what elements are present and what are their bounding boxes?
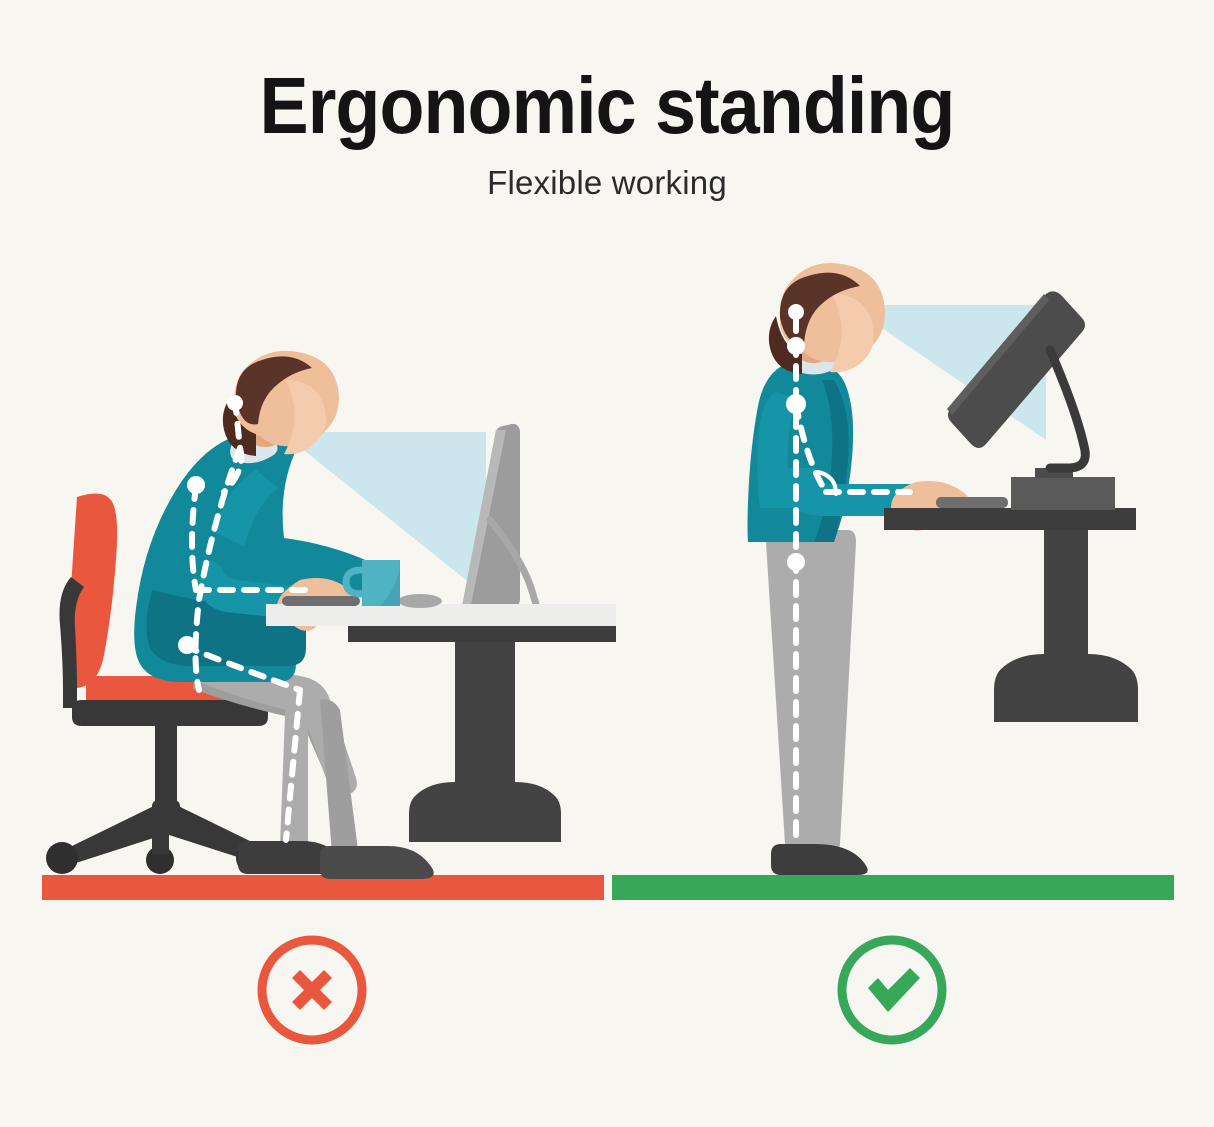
standing-posture-joint-shoulder [786,394,806,414]
standing-desk-pedestal [994,530,1138,722]
check-circle-icon [868,968,920,1012]
shoe-near [320,846,434,879]
desk-top-white [266,604,616,626]
dark-standing-desk [884,508,1138,722]
chair-caster-stem-mid [152,830,169,854]
standing-desk-top [884,508,1136,530]
bad-sitting-panel [42,351,616,900]
dark-monitor-arm [1050,350,1085,468]
floor-bar-green [612,875,1174,900]
good-standing-panel [612,263,1174,900]
verdict-row [0,930,1214,1060]
posture-joint-hip [178,636,196,654]
posture-joint-head [227,395,243,411]
chair-base-hub [152,800,180,830]
floor-bar-red [42,875,604,900]
posture-joint-shoulder [187,476,205,494]
standing-posture-joint-hip [787,553,805,571]
infographic-poster: Ergonomic standing Flexible working [0,0,1214,1127]
chair-gas-cylinder [155,726,177,812]
standing-shoe [771,844,868,875]
desk-pedestal [409,642,561,842]
chair-caster-left [46,842,78,874]
mouse [398,594,442,608]
standing-posture-joint-head [788,304,804,320]
standing-keyboard [936,497,1008,508]
verdict-correct [832,930,952,1050]
verdict-incorrect [252,930,372,1050]
cross-circle-icon [292,970,332,1010]
standing-posture-joint-neck [787,337,805,355]
standing-leg-near [766,530,856,854]
keyboard [282,596,360,606]
monitor-riser-box [1011,477,1115,510]
desk-top-underside [348,626,616,642]
